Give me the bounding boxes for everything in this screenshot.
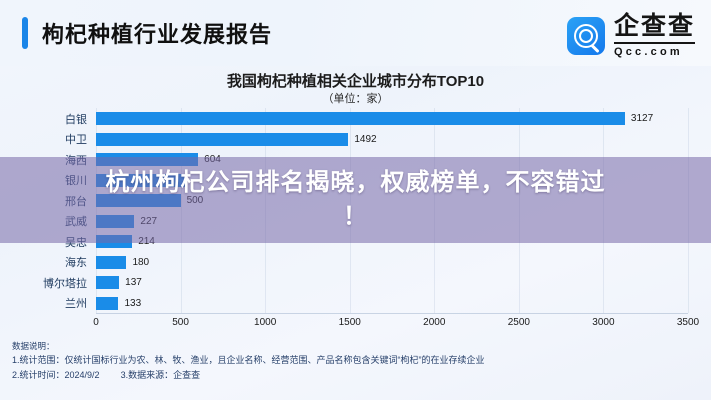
x-tick-label: 1500: [339, 317, 361, 328]
overlay-headline-cont: ！: [343, 200, 368, 234]
brand-name-en: Qcc.com: [614, 42, 695, 58]
brand-logo: 企查查 Qcc.com: [567, 14, 695, 58]
brand-text: 企查查 Qcc.com: [614, 14, 695, 58]
bar-value-label: 133: [124, 297, 141, 310]
logo-tail-shape: [590, 44, 599, 53]
qcc-logo-icon: [567, 17, 605, 55]
overlay-headline: 杭州枸杞公司排名揭晓，权威榜单，不容错过: [106, 166, 606, 200]
x-tick-label: 3500: [677, 317, 699, 328]
bar-category-label: 兰州: [0, 295, 96, 311]
bar: [96, 297, 118, 310]
page-title: 枸杞种植行业发展报告: [42, 17, 272, 49]
bar-track: 137: [96, 274, 711, 291]
x-tick-label: 1000: [254, 317, 276, 328]
x-tick-label: 2500: [508, 317, 530, 328]
bar-row: 白银3127: [0, 110, 711, 127]
overlay-banner: 杭州枸杞公司排名揭晓，权威榜单，不容错过 ！: [0, 157, 711, 243]
bar-row: 海东180: [0, 254, 711, 271]
bar-track: 1492: [96, 131, 711, 148]
bar-value-label: 180: [132, 256, 149, 269]
x-axis-ticks: 0500100015002000250030003500: [0, 317, 711, 333]
footer-data-source: 3.数据来源：企查查: [121, 370, 201, 380]
bar-category-label: 中卫: [0, 131, 96, 147]
bar-value-label: 1492: [354, 133, 376, 146]
accent-bar-icon: [22, 17, 28, 49]
bar: [96, 112, 625, 125]
bar-row: 博尔塔拉137: [0, 274, 711, 291]
logo-inner-ring-shape: [579, 29, 593, 43]
x-axis-line: [96, 313, 688, 314]
x-tick-label: 2000: [423, 317, 445, 328]
bar-value-label: 3127: [631, 112, 653, 125]
bar: [96, 133, 348, 146]
chart-title: 我国枸杞种植相关企业城市分布TOP10: [0, 70, 711, 91]
report-infographic: 枸杞种植行业发展报告 企查查 Qcc.com 我国枸杞种植相关企业城市分布TOP…: [0, 0, 711, 400]
bar-row: 兰州133: [0, 295, 711, 312]
bar: [96, 276, 119, 289]
bar-track: 133: [96, 295, 711, 312]
bar-category-label: 博尔塔拉: [0, 275, 96, 291]
footer-stat-time: 2.统计时间：2024/9/2: [12, 370, 100, 380]
footer-note-1: 1.统计范围：仅统计国标行业为农、林、牧、渔业，且企业名称、经营范围、产品名称包…: [12, 353, 702, 368]
bar-category-label: 海东: [0, 254, 96, 270]
footer-note-2: 2.统计时间：2024/9/2 3.数据来源：企查查: [12, 368, 702, 383]
bar-track: 3127: [96, 110, 711, 127]
bar: [96, 256, 126, 269]
header-bar: 枸杞种植行业发展报告 企查查 Qcc.com: [0, 0, 711, 66]
brand-name-cn: 企查查: [614, 14, 695, 39]
bar-category-label: 白银: [0, 111, 96, 127]
footer-heading: 数据说明：: [12, 340, 702, 353]
chart-subtitle: （单位：家）: [0, 90, 711, 106]
bar-track: 180: [96, 254, 711, 271]
x-tick-label: 3000: [592, 317, 614, 328]
x-tick-label: 500: [172, 317, 189, 328]
bar-value-label: 137: [125, 276, 142, 289]
footer-notes: 数据说明： 1.统计范围：仅统计国标行业为农、林、牧、渔业，且企业名称、经营范围…: [12, 340, 702, 383]
x-tick-label: 0: [93, 317, 99, 328]
bar-row: 中卫1492: [0, 131, 711, 148]
